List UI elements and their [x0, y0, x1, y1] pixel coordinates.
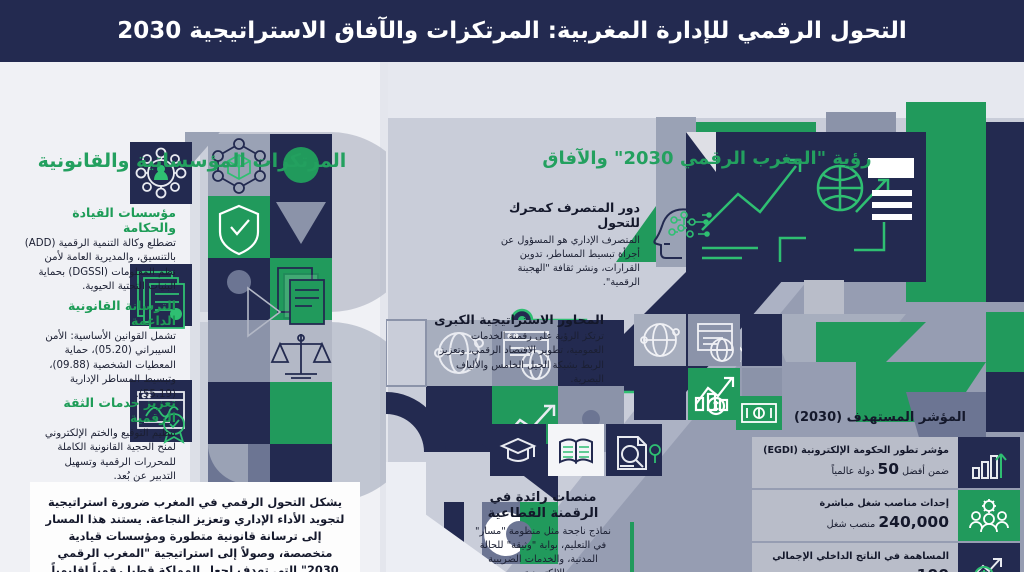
kpi-row-egdi-number: 50: [877, 460, 899, 478]
kpi-row-jobs-suffix: منصب شغل: [827, 519, 876, 530]
sector-platform-icons: [490, 424, 680, 482]
kpi-row-egdi-label: مؤشر تطور الحكومة الإلكترونية (EGDI): [761, 445, 949, 457]
left-block-governance: مؤسسات القيادة والحكامة تضطلع وكالة التن…: [24, 205, 176, 295]
bar-chart-growth-icon: [958, 437, 1020, 488]
left-section-heading: المرتكزات المؤسساتية والقانونية: [6, 150, 378, 174]
right-block-manager-role-body: المتصرف الإداري هو المسؤول عن أجرأة تبسي…: [487, 234, 640, 291]
right-block-platforms-body: نماذج ناجحة مثل منظومة "مسار" في التعليم…: [470, 525, 616, 572]
kpi-row-gdp-text: المساهمة في الناتج الداخلي الإجمالي 100 …: [752, 543, 958, 572]
right-block-manager-role-heading: دور المتصرف كمحرك للتحول: [487, 200, 640, 231]
kpi-row-gdp-value: 100 مليار درهم: [761, 565, 949, 572]
right-block-platforms: منصات رائدة في الرقمنة القطاعية نماذج نا…: [470, 490, 616, 572]
left-block-trust: تعزيز خدمات الثقة الرقمية تنظيم التوقيع …: [36, 395, 176, 485]
left-block-trust-body: تنظيم التوقيع والختم الإلكتروني لمنح الح…: [36, 427, 176, 485]
conclusion-text: يشكل التحول الرقمي في المغرب ضرورة استرا…: [44, 494, 346, 572]
kpi-title: المؤشر المستهدف (2030): [740, 410, 1020, 425]
kpi-row-jobs-value: 240,000 منصب شغل: [761, 512, 949, 532]
left-block-legal-body: تشمل القوانين الأساسية: الأمن السيبراني …: [36, 330, 176, 402]
right-block-manager-role: دور المتصرف كمحرك للتحول المتصرف الإداري…: [487, 200, 640, 290]
kpi-row-jobs: إحداث مناصب شغل مباشرة 240,000 منصب شغل: [752, 490, 1020, 541]
page-title: التحول الرقمي للإدارة المغربية: المرتكزا…: [99, 18, 925, 44]
kpi-list: مؤشر تطور الحكومة الإلكترونية (EGDI) ضمن…: [752, 437, 1020, 572]
kpi-row-jobs-label: إحداث مناصب شغل مباشرة: [761, 498, 949, 510]
right-block-strategic-axes: المحاور الاستراتيجية الكبرى ترتكز الرؤية…: [432, 312, 604, 387]
kpi-row-egdi-value: ضمن أفضل 50 دولة عالمياً: [761, 459, 949, 479]
left-block-governance-body: تضطلع وكالة التنمية الرقمية (ADD) بالتنس…: [24, 237, 176, 295]
kpi-row-egdi-prefix: ضمن أفضل: [902, 466, 949, 477]
kpi-row-gdp-label: المساهمة في الناتج الداخلي الإجمالي: [761, 551, 949, 563]
conclusion-box: يشكل التحول الرقمي في المغرب ضرورة استرا…: [30, 482, 360, 572]
kpi-row-egdi: مؤشر تطور الحكومة الإلكترونية (EGDI) ضمن…: [752, 437, 1020, 488]
kpi-row-gdp-number: 100: [917, 566, 949, 572]
right-block-strategic-axes-body: ترتكز الرؤية على رقمنة الخدمات العمومية،…: [432, 330, 604, 387]
kpi-row-jobs-number: 240,000: [878, 513, 949, 531]
left-block-legal-heading: الترسانة القانونية الداعمة: [36, 298, 176, 328]
money-growth-icon: [958, 543, 1020, 572]
left-block-legal: الترسانة القانونية الداعمة تشمل القوانين…: [36, 298, 176, 402]
kpi-row-egdi-suffix: دولة عالمياً: [831, 466, 874, 477]
kpi-row-gdp: المساهمة في الناتج الداخلي الإجمالي 100 …: [752, 543, 1020, 572]
header-bar: التحول الرقمي للإدارة المغربية: المرتكزا…: [0, 0, 1024, 62]
kpi-row-egdi-text: مؤشر تطور الحكومة الإلكترونية (EGDI) ضمن…: [752, 437, 958, 488]
left-block-trust-heading: تعزيز خدمات الثقة الرقمية: [36, 395, 176, 425]
infographic-root: التحول الرقمي للإدارة المغربية: المرتكزا…: [0, 0, 1024, 572]
left-block-governance-heading: مؤسسات القيادة والحكامة: [24, 205, 176, 235]
right-block-strategic-axes-heading: المحاور الاستراتيجية الكبرى: [432, 312, 604, 327]
kpi-row-jobs-text: إحداث مناصب شغل مباشرة 240,000 منصب شغل: [752, 490, 958, 541]
right-block-platforms-heading: منصات رائدة في الرقمنة القطاعية: [470, 490, 616, 522]
infographic-canvas: المرتكزات المؤسساتية والقانونية مؤسسات ا…: [0, 62, 1024, 572]
team-gear-icon: [958, 490, 1020, 541]
ai-head-circuit-icon: [648, 200, 712, 264]
right-section-heading: رؤية "المغرب الرقمي 2030" والآفاق: [402, 148, 1012, 171]
